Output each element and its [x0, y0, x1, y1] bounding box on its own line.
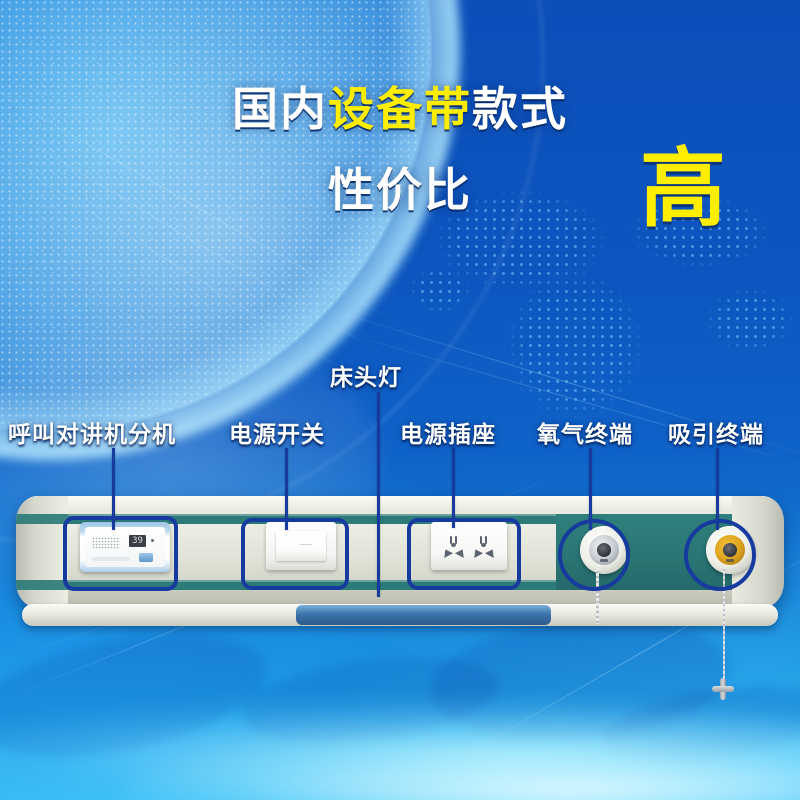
leader-line-oxygen-terminal [589, 448, 592, 530]
highlight-circle-suction [684, 519, 756, 591]
panel-top-curve [16, 496, 784, 512]
headline-line-1: 国内设备带款式 [0, 86, 800, 132]
leader-line-power-socket [452, 448, 455, 528]
highlight-box-power-switch [241, 518, 349, 590]
end-cap-stripe [16, 514, 68, 524]
callout-label-oxygen-terminal: 氧气终端 [537, 415, 633, 449]
headline-emphasis-gao: 高 [640, 146, 726, 232]
headline-part-equipment-belt: 设备带 [328, 82, 472, 136]
poster-canvas: 国内设备带款式 性价比 高 呼叫对讲机分机 床头灯 电源开关 电源插座 氧气终端… [0, 0, 800, 800]
end-cap-stripe [16, 580, 68, 590]
highlight-box-intercom [63, 516, 178, 591]
headline-part-domestic: 国内 [232, 82, 328, 136]
callout-label-intercom: 呼叫对讲机分机 [8, 415, 176, 449]
highlight-circle-oxygen [558, 519, 630, 591]
pull-cord-handle[interactable] [712, 678, 734, 700]
callout-label-power-socket: 电源插座 [400, 415, 496, 449]
panel-rail-blue-segment [296, 605, 551, 625]
leader-line-suction-terminal [716, 448, 719, 530]
pull-cord-handle-horizontal [712, 686, 734, 692]
callout-label-bed-lamp: 床头灯 [330, 358, 402, 392]
panel-end-cap-left [16, 496, 68, 608]
headline-part-style: 款式 [472, 82, 568, 136]
leader-line-bed-lamp [377, 392, 380, 597]
callout-label-power-switch: 电源开关 [229, 415, 325, 449]
highlight-box-power-socket [407, 518, 521, 590]
callout-label-suction-terminal: 吸引终端 [668, 415, 764, 449]
